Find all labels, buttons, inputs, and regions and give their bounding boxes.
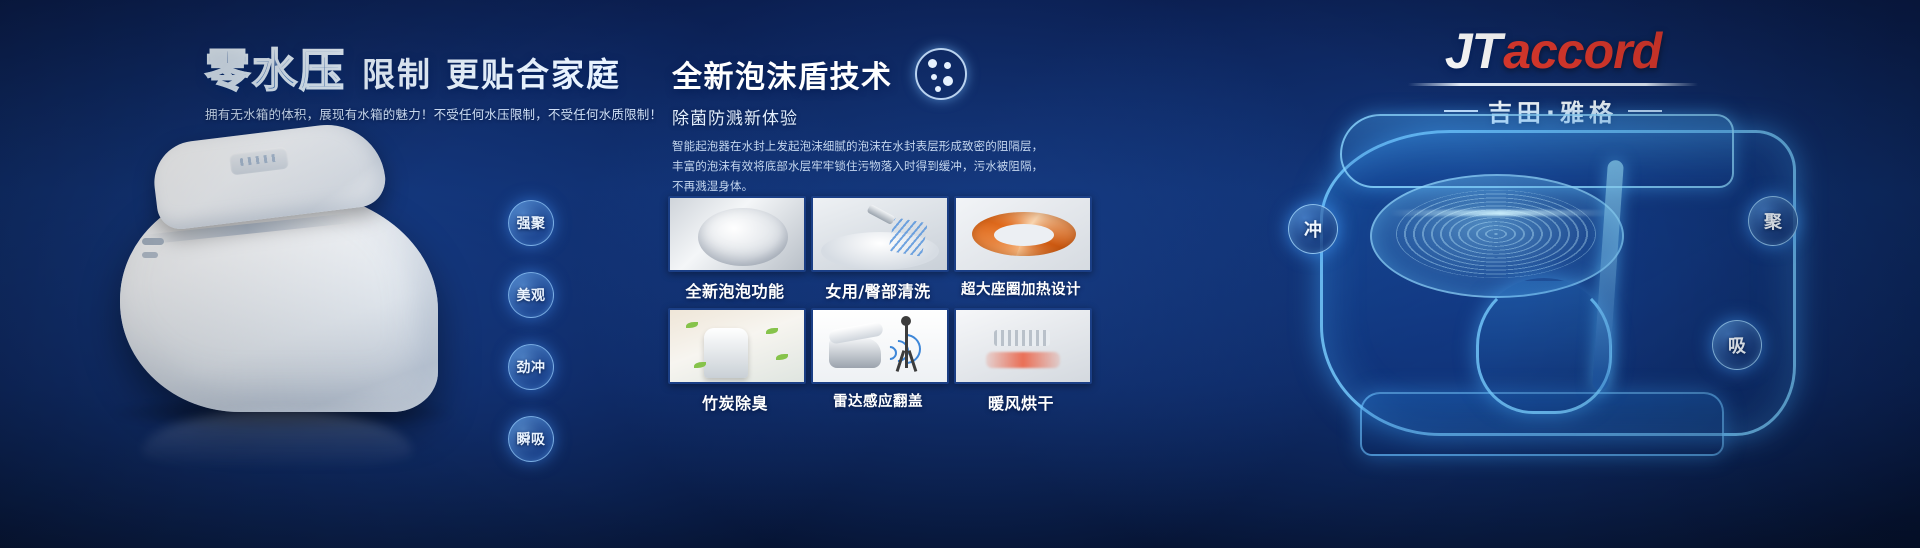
xray-rim-glow	[1390, 210, 1610, 216]
badge-label: 强聚	[517, 213, 546, 233]
left-description: 拥有无水箱的体积，展现有水箱的魅力！不受任何水压限制，不受任何水质限制！	[205, 106, 625, 124]
spray-wand-icon	[811, 196, 949, 272]
feature-card-bamboo[interactable]: 竹炭除臭	[668, 308, 802, 414]
center-title: 全新泡沫盾技术	[672, 52, 893, 96]
badge-xi: 吸	[1712, 320, 1762, 370]
feature-card-row-1: 全新泡泡功能 女用/臀部清洗 超大座圈加热设计	[668, 196, 1088, 302]
feature-card-label: 全新泡泡功能	[668, 278, 802, 302]
right-panel: JT accord 吉田·雅格 冲 聚 吸	[1160, 0, 1920, 548]
feature-card-wash[interactable]: 女用/臀部清洗	[811, 196, 945, 302]
feature-card-dryer[interactable]: 暖风烘干	[954, 308, 1088, 414]
warm-air-dryer-icon	[954, 308, 1092, 384]
logo-dash-left-icon	[1444, 110, 1478, 112]
badge-qiangju: 强聚	[508, 200, 554, 246]
badge-label: 聚	[1764, 208, 1782, 234]
badge-jingchong: 劲冲	[508, 344, 554, 390]
center-paragraph: 智能起泡器在水封上发起泡沫细腻的泡沫在水封表层形成致密的阻隔层， 丰富的泡沫有效…	[672, 136, 1002, 196]
toilet-button-upper	[142, 238, 164, 245]
feature-card-label: 超大座圈加热设计	[954, 278, 1088, 299]
feature-card-row-2: 竹炭除臭 雷达感应翻盖	[668, 308, 1088, 414]
feature-card-label: 竹炭除臭	[668, 390, 802, 414]
center-subtitle: 除菌防溅新体验	[672, 104, 798, 129]
headline-sub-text: 限制更贴合家庭	[362, 48, 621, 96]
badge-label: 劲冲	[517, 357, 546, 377]
feature-card-heated-seat[interactable]: 超大座圈加热设计	[954, 196, 1088, 302]
left-badge-column: 强聚 美观 劲冲 瞬吸	[508, 200, 554, 462]
brand-logo: JT accord 吉田·雅格	[1408, 26, 1698, 128]
feature-card-grid: 全新泡泡功能 女用/臀部清洗 超大座圈加热设计	[668, 196, 1088, 420]
feature-card-foam[interactable]: 全新泡泡功能	[668, 196, 802, 302]
foam-bubbles-icon	[915, 48, 967, 100]
promo-banner: 零水压 限制更贴合家庭 拥有无水箱的体积，展现有水箱的魅力！不受任何水压限制，不…	[0, 0, 1920, 548]
toilet-button-lower	[142, 252, 158, 258]
badge-meiguan: 美观	[508, 272, 554, 318]
badge-label: 美观	[517, 285, 546, 305]
left-panel: 零水压 限制更贴合家庭 拥有无水箱的体积，展现有水箱的魅力！不受任何水压限制，不…	[0, 0, 640, 548]
badge-shunxi: 瞬吸	[508, 416, 554, 462]
bamboo-charcoal-deodorize-icon	[668, 308, 806, 384]
badge-label: 冲	[1304, 216, 1322, 242]
smart-toilet-illustration	[112, 128, 472, 428]
center-panel: 全新泡沫盾技术 除菌防溅新体验 智能起泡器在水封上发起泡沫细腻的泡沫在水封表层形…	[640, 0, 1160, 548]
paragraph-line-2: 丰富的泡沫有效将底部水层牢牢锁住污物落入时得到缓冲，污水被阻隔，	[672, 156, 1002, 176]
left-headline: 零水压 限制更贴合家庭	[205, 34, 621, 99]
headline-main-text: 零水压	[205, 34, 346, 99]
brand-logo-latin: JT accord	[1408, 26, 1698, 76]
badge-label: 瞬吸	[517, 429, 546, 449]
badge-ju: 聚	[1748, 196, 1798, 246]
brand-logo-jt: JT	[1445, 26, 1501, 76]
brand-logo-accord: accord	[1503, 26, 1661, 76]
badge-chong: 冲	[1288, 204, 1338, 254]
feature-card-label: 女用/臀部清洗	[811, 278, 945, 302]
headline-sub-a: 限制	[362, 55, 432, 94]
radar-sensor-lid-icon	[811, 308, 949, 384]
paragraph-line-1: 智能起泡器在水封上发起泡沫细腻的泡沫在水封表层形成致密的阻隔层，	[672, 136, 1002, 156]
heated-seat-ring-icon	[954, 196, 1092, 272]
toilet-bowl-foam-icon	[668, 196, 806, 272]
feature-card-label: 雷达感应翻盖	[811, 390, 945, 411]
xray-swirl-flow	[1396, 190, 1596, 278]
headline-sub-b: 更贴合家庭	[446, 55, 621, 94]
logo-dash-right-icon	[1628, 110, 1662, 112]
feature-card-label: 暖风烘干	[954, 390, 1088, 414]
feature-card-radar[interactable]: 雷达感应翻盖	[811, 308, 945, 414]
xray-toilet-cutaway-icon: 冲 聚 吸	[1300, 120, 1820, 520]
badge-label: 吸	[1728, 332, 1746, 358]
brand-logo-divider	[1408, 83, 1698, 86]
xray-siphon-trap	[1476, 278, 1612, 414]
paragraph-line-3: 不再溅湿身体。	[672, 176, 1002, 196]
center-title-row: 全新泡沫盾技术	[672, 48, 967, 100]
